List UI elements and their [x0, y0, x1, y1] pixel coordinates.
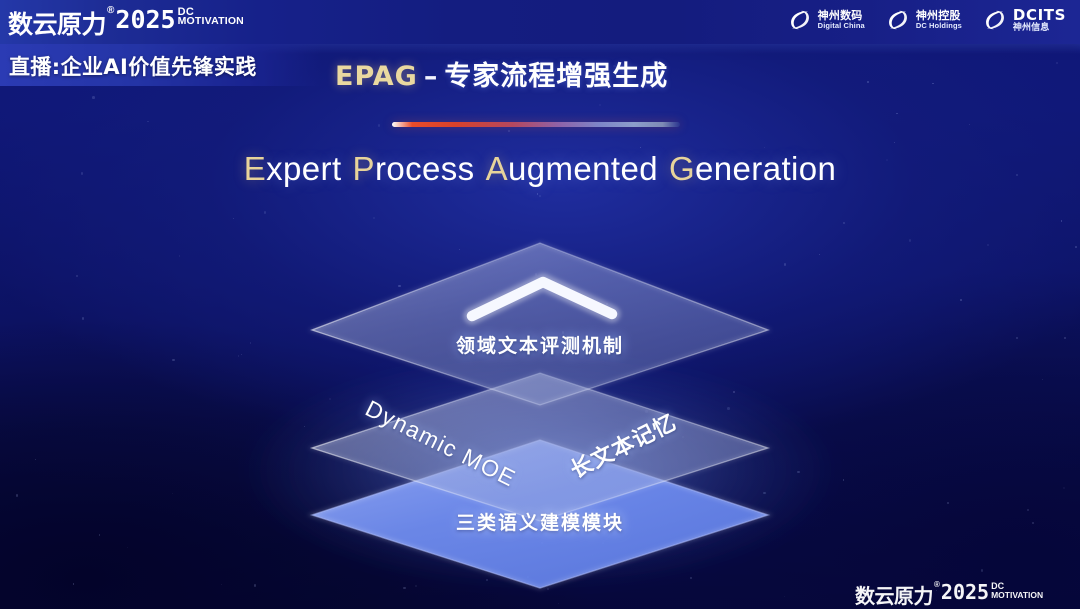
background-speck: [373, 217, 375, 219]
background-speck: [784, 596, 785, 597]
background-speck: [606, 303, 608, 305]
background-speck: [92, 96, 95, 99]
background-speck: [415, 585, 417, 587]
background-speck: [147, 121, 148, 122]
background-speck: [304, 426, 305, 427]
background-speck: [733, 391, 735, 393]
subtitle-initial-3: A: [486, 150, 508, 187]
background-speck: [508, 130, 511, 133]
live-banner-label: 直播:企业AI价值先锋实践: [9, 51, 257, 81]
page-title: EPAG–专家流程增强生成: [335, 54, 668, 93]
subtitle-initial-2: P: [353, 150, 375, 187]
background-speck: [1044, 599, 1045, 600]
layer-label-top: 领域文本评测机制: [0, 331, 1080, 358]
brand-dc-motivation: DC MOTIVATION: [178, 7, 244, 27]
background-speck: [73, 583, 74, 584]
background-speck: [539, 195, 541, 197]
background-speck: [82, 317, 84, 319]
swirl-logo-icon: [787, 7, 813, 33]
background-speck: [403, 587, 405, 589]
stack-layer-middle: [312, 373, 768, 521]
chevron-up-icon: [472, 282, 612, 316]
background-speck: [1042, 379, 1043, 380]
watermark-name-cn: 数云原力: [855, 580, 933, 609]
background-speck: [1075, 246, 1077, 248]
background-speck: [264, 211, 266, 213]
layer-label-bottom: 三类语义建模模块: [0, 508, 1080, 535]
slide-canvas: 领域文本评测机制 Dynamic MOE 长文本记忆 三类语义建模模块 数云原力…: [0, 0, 1080, 609]
background-speck: [981, 569, 984, 572]
subtitle-initial-1: E: [244, 150, 266, 187]
layer-label-dynamic-moe: Dynamic MOE: [361, 395, 520, 493]
swirl-logo-icon: [982, 7, 1008, 33]
brand-year: 2025: [115, 5, 175, 34]
background-speck: [764, 147, 765, 148]
background-speck: [819, 254, 820, 255]
brand-name-cn: 数云原力: [8, 5, 106, 41]
brand-registered-mark: ®: [107, 5, 114, 16]
title-acronym: EPAG: [335, 61, 418, 92]
background-speck: [329, 398, 331, 400]
partner-text: 神州数码 Digital China: [818, 10, 865, 30]
background-speck: [172, 359, 174, 361]
background-speck: [35, 459, 36, 460]
brand-logo-header: 数云原力 ® 2025 DC MOTIVATION: [8, 5, 244, 41]
background-speck: [867, 81, 869, 83]
background-speck: [894, 142, 895, 143]
background-speck: [127, 547, 128, 548]
background-speck: [987, 244, 989, 246]
subtitle-word-1: xpert: [266, 150, 341, 187]
background-speck: [682, 436, 684, 438]
background-speck: [1063, 487, 1065, 489]
background-speck: [645, 410, 648, 413]
background-speck: [233, 218, 234, 219]
background-speck: [797, 471, 800, 474]
background-speck: [527, 576, 529, 578]
background-speck: [378, 124, 380, 126]
background-speck: [969, 124, 970, 125]
partner-name-cn: DCITS: [1013, 7, 1066, 23]
background-speck: [960, 299, 962, 301]
background-speck: [537, 193, 539, 195]
background-speck: [763, 492, 765, 494]
partner-logo-dc-holdings: 神州控股 DC Holdings: [885, 7, 962, 33]
subtitle-initial-4: G: [669, 150, 695, 187]
background-speck: [1056, 62, 1058, 64]
background-speck: [541, 542, 542, 543]
background-speck: [464, 492, 466, 494]
background-speck: [640, 147, 641, 148]
background-speck: [179, 255, 180, 256]
layer-label-long-text-memory: 长文本记忆: [564, 405, 681, 485]
partner-logo-digital-china: 神州数码 Digital China: [787, 7, 865, 33]
background-speck: [947, 502, 949, 504]
subtitle-word-2: rocess: [375, 150, 475, 187]
partner-text: DCITS 神州信息: [1013, 7, 1066, 33]
stack-layer-top: [312, 243, 768, 405]
background-speck: [558, 603, 559, 604]
swirl-logo-icon: [885, 7, 911, 33]
background-speck: [599, 104, 601, 106]
background-speck: [486, 579, 487, 580]
title-dash: –: [424, 61, 439, 92]
background-speck: [592, 554, 593, 555]
partner-text: 神州控股 DC Holdings: [916, 10, 962, 30]
background-speck: [932, 83, 933, 84]
title-chinese: 专家流程增强生成: [444, 61, 668, 92]
partner-logo-dcits: DCITS 神州信息: [982, 7, 1066, 33]
background-speck: [345, 436, 347, 438]
background-speck: [547, 588, 549, 590]
watermark-year: 2025: [941, 580, 989, 604]
partner-name-en: 神州信息: [1013, 23, 1066, 33]
subtitle-expansion: ExpertProcessAugmentedGeneration: [0, 150, 1080, 188]
partner-name-en: Digital China: [818, 22, 865, 30]
background-speck: [459, 249, 460, 250]
background-speck: [16, 494, 18, 496]
brand-motivation-text: MOTIVATION: [178, 17, 244, 27]
background-speck: [896, 113, 898, 115]
background-speck: [582, 300, 584, 302]
partner-logo-group: 神州数码 Digital China 神州控股 DC Holdings DCIT…: [787, 7, 1066, 33]
background-speck: [727, 407, 730, 410]
background-speck: [784, 263, 786, 265]
background-speck: [221, 584, 222, 585]
subtitle-word-3: ugmented: [508, 150, 658, 187]
background-speck: [909, 239, 911, 241]
background-speck: [690, 577, 692, 579]
background-speck: [843, 222, 845, 224]
background-speck: [172, 493, 173, 494]
background-speck: [76, 275, 78, 277]
brand-logo-watermark: 数云原力 ® 2025 DC MOTIVATION: [855, 580, 1043, 609]
background-speck: [843, 479, 845, 481]
background-speck: [535, 273, 538, 276]
background-speck: [1061, 220, 1063, 222]
background-speck: [254, 584, 256, 586]
watermark-motivation-text: MOTIVATION: [991, 591, 1043, 599]
background-speck: [602, 542, 604, 544]
gradient-divider: [392, 122, 680, 127]
subtitle-word-4: eneration: [695, 150, 836, 187]
watermark-dc-motivation: DC MOTIVATION: [991, 582, 1043, 599]
watermark-registered-mark: ®: [934, 580, 940, 589]
background-speck: [398, 285, 400, 287]
partner-name-en: DC Holdings: [916, 22, 962, 30]
